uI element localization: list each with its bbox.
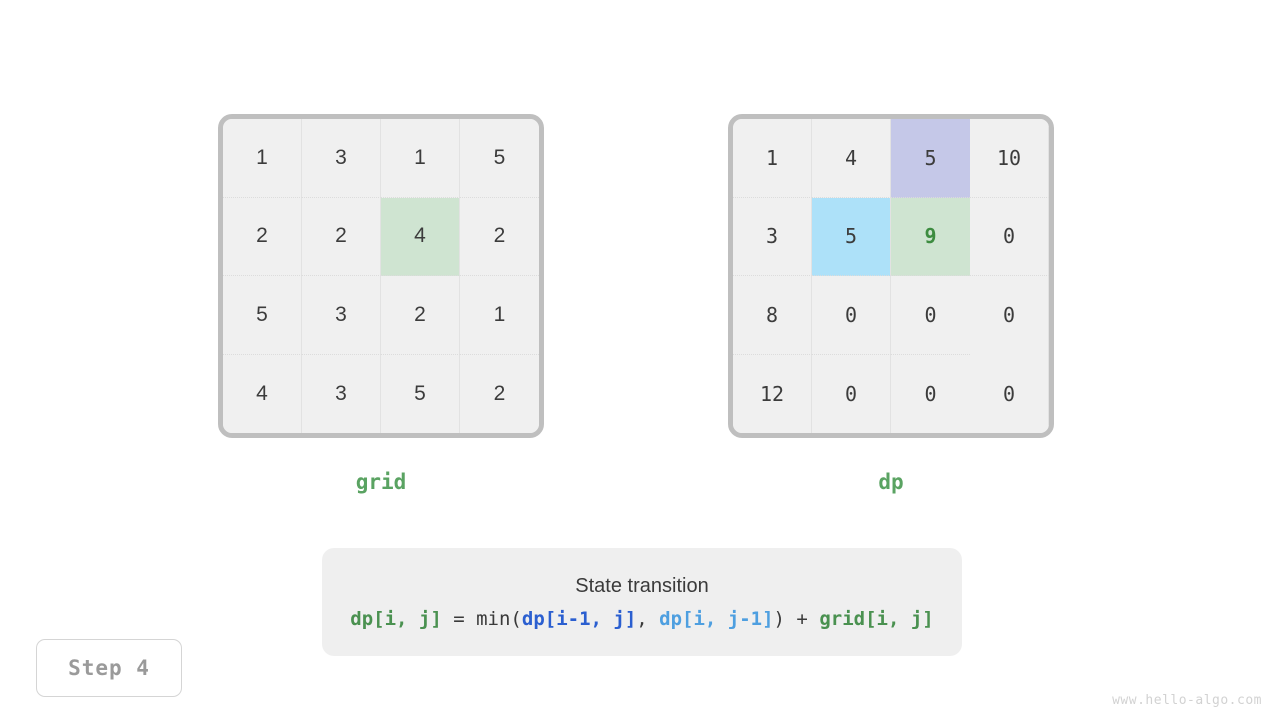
grid-cell-3-0: 4 — [223, 355, 302, 434]
dp-cell-0-0: 1 — [733, 119, 812, 198]
dp-cell-0-3: 10 — [970, 119, 1049, 198]
grid-cell-2-1: 3 — [302, 276, 381, 355]
grid-cell-1-3: 2 — [460, 198, 539, 277]
dp-cell-value: 0 — [1003, 224, 1015, 248]
dp-cell-1-3: 0 — [970, 198, 1049, 277]
dp-cell-1-1: 5 — [812, 198, 891, 277]
dp-cell-1-2: 9 — [891, 198, 970, 277]
grid-cell-0-0: 1 — [223, 119, 302, 198]
state-transition-card: State transition dp[i, j] = min(dp[i-1, … — [322, 548, 962, 656]
grid-cell-value: 3 — [335, 303, 347, 327]
dp-cell-2-0: 8 — [733, 276, 812, 355]
formula-token-2: dp[i-1, j] — [522, 608, 636, 630]
grid-cell-3-2: 5 — [381, 355, 460, 434]
dp-cell-value: 3 — [766, 224, 778, 248]
grid-matrix: 1315224253214352 — [218, 114, 544, 438]
dp-cell-1-0: 3 — [733, 198, 812, 277]
state-transition-formula: dp[i, j] = min(dp[i-1, j], dp[i, j-1]) +… — [350, 608, 933, 630]
grid-cell-value: 5 — [256, 303, 268, 327]
dp-cell-value: 0 — [1003, 303, 1015, 327]
formula-token-4: dp[i, j-1] — [659, 608, 773, 630]
formula-token-0: dp[i, j] — [350, 608, 442, 630]
dp-cell-2-2: 0 — [891, 276, 970, 355]
canvas: 1315224253214352 grid 145103590800012000… — [0, 0, 1280, 720]
dp-cell-value: 10 — [997, 146, 1021, 170]
grid-cell-value: 1 — [414, 146, 426, 170]
dp-matrix-label: dp — [728, 470, 1054, 494]
grid-cell-1-0: 2 — [223, 198, 302, 277]
formula-token-1: = min( — [442, 608, 522, 630]
dp-matrix: 145103590800012000 — [728, 114, 1054, 438]
grid-cell-3-3: 2 — [460, 355, 539, 434]
state-transition-title: State transition — [575, 575, 708, 598]
dp-cell-value: 0 — [924, 382, 936, 406]
step-badge: Step 4 — [36, 639, 182, 697]
dp-cell-2-1: 0 — [812, 276, 891, 355]
dp-cell-3-3: 0 — [970, 355, 1049, 434]
grid-cell-value: 2 — [256, 224, 268, 248]
grid-cell-value: 1 — [256, 146, 268, 170]
grid-cell-value: 3 — [335, 382, 347, 406]
dp-cell-value: 8 — [766, 303, 778, 327]
grid-cell-value: 5 — [494, 146, 506, 170]
dp-cell-value: 1 — [766, 146, 778, 170]
grid-cell-2-0: 5 — [223, 276, 302, 355]
grid-cell-0-2: 1 — [381, 119, 460, 198]
dp-cell-value: 4 — [845, 146, 857, 170]
dp-cell-value: 0 — [1003, 382, 1015, 406]
grid-cell-0-3: 5 — [460, 119, 539, 198]
grid-cell-value: 2 — [494, 382, 506, 406]
grid-cell-value: 4 — [256, 382, 268, 406]
step-badge-label: Step 4 — [68, 656, 150, 680]
grid-cell-value: 5 — [414, 382, 426, 406]
grid-cell-value: 3 — [335, 146, 347, 170]
dp-cell-3-1: 0 — [812, 355, 891, 434]
grid-matrix-label: grid — [218, 470, 544, 494]
dp-cell-value: 12 — [760, 382, 784, 406]
grid-cell-2-2: 2 — [381, 276, 460, 355]
dp-cell-2-3: 0 — [970, 276, 1049, 355]
grid-cell-value: 4 — [414, 224, 426, 248]
grid-cell-1-2: 4 — [381, 198, 460, 277]
formula-token-6: grid[i, j] — [819, 608, 933, 630]
grid-cell-value: 2 — [335, 224, 347, 248]
grid-cell-value: 2 — [414, 303, 426, 327]
dp-cell-value: 0 — [845, 303, 857, 327]
dp-cell-value: 0 — [924, 303, 936, 327]
formula-token-5: ) + — [774, 608, 820, 630]
grid-cell-0-1: 3 — [302, 119, 381, 198]
dp-cell-0-2: 5 — [891, 119, 970, 198]
grid-cell-value: 1 — [494, 303, 506, 327]
grid-cell-2-3: 1 — [460, 276, 539, 355]
grid-cell-value: 2 — [494, 224, 506, 248]
dp-cell-0-1: 4 — [812, 119, 891, 198]
dp-cell-value: 9 — [924, 224, 936, 248]
dp-matrix-container: 145103590800012000 dp — [728, 114, 1054, 438]
grid-matrix-container: 1315224253214352 grid — [218, 114, 544, 438]
grid-cell-3-1: 3 — [302, 355, 381, 434]
dp-cell-value: 5 — [845, 224, 857, 248]
dp-cell-3-2: 0 — [891, 355, 970, 434]
dp-cell-value: 5 — [924, 146, 936, 170]
dp-cell-value: 0 — [845, 382, 857, 406]
grid-cell-1-1: 2 — [302, 198, 381, 277]
watermark: www.hello-algo.com — [1112, 693, 1262, 708]
formula-token-3: , — [636, 608, 659, 630]
dp-cell-3-0: 12 — [733, 355, 812, 434]
